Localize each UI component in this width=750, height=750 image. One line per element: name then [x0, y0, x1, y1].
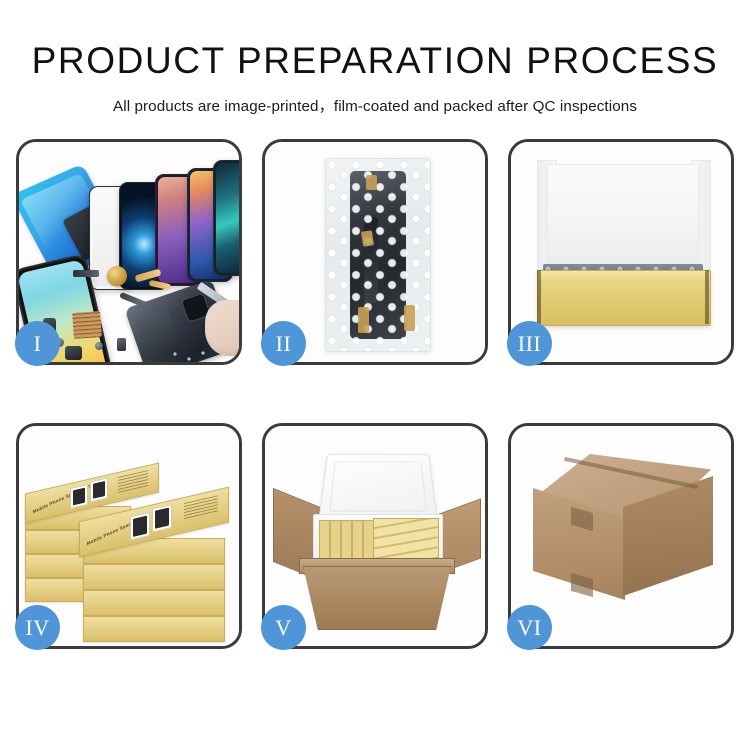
- box-phone-image-icon: [130, 512, 150, 541]
- box-spec-lines-icon: [184, 495, 218, 521]
- earpiece-speaker-icon: [73, 270, 99, 277]
- step-badge-6: VI: [507, 605, 552, 650]
- tape-icon: [404, 305, 415, 331]
- step-panel-6[interactable]: VI: [508, 423, 734, 649]
- steps-grid: I II: [16, 139, 734, 735]
- step-badge-2: II: [261, 321, 306, 366]
- page-subtitle: All products are image-printed，film-coat…: [0, 94, 750, 116]
- step-panel-3[interactable]: III: [508, 139, 734, 365]
- step-panel-5[interactable]: V: [262, 423, 488, 649]
- box-phone-image-icon: [90, 477, 108, 502]
- product-preparation-infographic: PRODUCT PREPARATION PROCESS All products…: [0, 0, 750, 750]
- logic-board-chip-icon: [72, 311, 102, 339]
- box-phone-image-icon: [70, 484, 88, 509]
- tape-icon: [366, 175, 377, 190]
- loudspeaker-icon: [65, 346, 82, 360]
- kraft-box-icon: [83, 616, 225, 642]
- small-screws-icon: [169, 348, 213, 362]
- page-title: PRODUCT PREPARATION PROCESS: [0, 42, 750, 81]
- tape-icon: [358, 307, 369, 333]
- vibration-motor-icon: [107, 266, 127, 286]
- white-foam-sheet-icon: [547, 164, 699, 276]
- step-panel-2[interactable]: II: [262, 139, 488, 365]
- kraft-box-icon: [83, 564, 225, 590]
- step-badge-3: III: [507, 321, 552, 366]
- screw-icon: [95, 342, 103, 350]
- carton-body-icon: [303, 566, 451, 630]
- box-tray-edges-icon: [537, 270, 709, 324]
- header: PRODUCT PREPARATION PROCESS All products…: [0, 0, 750, 116]
- step-panel-1[interactable]: I: [16, 139, 242, 365]
- step-panel-4[interactable]: Mobile Phone Spare Parts Mobile Phone Sp…: [16, 423, 242, 649]
- tape-icon: [361, 230, 374, 247]
- foam-cooler-lid-icon: [318, 454, 438, 522]
- connector-icon: [117, 338, 126, 351]
- bubble-wrap-bag-icon: [325, 158, 431, 352]
- kraft-boxes-inside-icon: [373, 518, 439, 562]
- step-badge-4: IV: [15, 605, 60, 650]
- box-phone-image-icon: [152, 504, 172, 533]
- step-badge-5: V: [261, 605, 306, 650]
- kraft-box-icon: [83, 590, 225, 616]
- box-spec-lines-icon: [118, 470, 148, 493]
- phone-screen-teal-icon: [213, 160, 239, 276]
- kraft-box-stack: Mobile Phone Spare Parts Mobile Phone Sp…: [23, 442, 239, 640]
- step-badge-1: I: [15, 321, 60, 366]
